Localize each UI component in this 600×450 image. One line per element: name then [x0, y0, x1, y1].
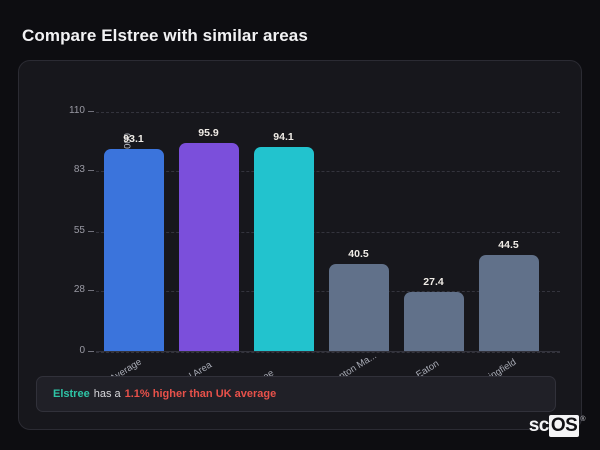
- bar-rect[interactable]: [254, 147, 314, 352]
- y-tick-label: 83: [74, 164, 85, 175]
- bar-item[interactable]: 44.5Hemingfield: [471, 112, 546, 352]
- gridline: [96, 352, 560, 353]
- bar-item[interactable]: 93.1UK Average: [96, 112, 171, 352]
- tick-mark: [88, 111, 94, 112]
- bar-item[interactable]: 40.5Hampton Ma...: [321, 112, 396, 352]
- y-tick-label: 0: [79, 345, 85, 356]
- y-tick-label: 28: [74, 284, 85, 295]
- bar-item[interactable]: 94.1Elstree: [246, 112, 321, 352]
- chart-card: Crimes per 1,000 1108355280 93.1UK Avera…: [18, 60, 582, 430]
- bar-item[interactable]: 95.9Local Area: [171, 112, 246, 352]
- x-axis-baseline: [96, 351, 560, 352]
- bar-group: 93.1UK Average95.9Local Area94.1Elstree4…: [96, 112, 546, 352]
- bar-rect[interactable]: [179, 143, 239, 352]
- bar-rect[interactable]: [404, 292, 464, 352]
- logo-text-os: OS: [549, 415, 579, 437]
- tick-mark: [88, 231, 94, 232]
- tick-mark: [88, 290, 94, 291]
- comparison-note: Elstree has a 1.1% higher than UK averag…: [36, 376, 556, 412]
- note-comparison: 1.1% higher than UK average: [125, 388, 277, 400]
- bar-value-label: 44.5: [498, 239, 518, 251]
- scos-logo: sc OS ®: [529, 415, 585, 437]
- bar-value-label: 95.9: [198, 127, 218, 139]
- bar-value-label: 40.5: [348, 248, 368, 260]
- bar-item[interactable]: 27.4Little Eaton: [396, 112, 471, 352]
- tick-mark: [88, 170, 94, 171]
- bar-value-label: 93.1: [123, 133, 143, 145]
- y-tick-label: 110: [69, 105, 85, 116]
- note-area-name: Elstree: [53, 388, 90, 400]
- bar-rect[interactable]: [329, 264, 389, 352]
- tick-mark: [88, 351, 94, 352]
- bar-chart-plot-area: Crimes per 1,000 1108355280 93.1UK Avera…: [96, 112, 546, 352]
- page-title: Compare Elstree with similar areas: [22, 26, 308, 46]
- bar-value-label: 94.1: [273, 131, 293, 143]
- y-tick-label: 55: [74, 225, 85, 236]
- note-connector: has a: [94, 388, 121, 400]
- bar-value-label: 27.4: [423, 276, 443, 288]
- bar-rect[interactable]: [104, 149, 164, 352]
- registered-mark-icon: ®: [580, 416, 585, 423]
- logo-text-sc: sc: [529, 415, 549, 437]
- bar-rect[interactable]: [479, 255, 539, 352]
